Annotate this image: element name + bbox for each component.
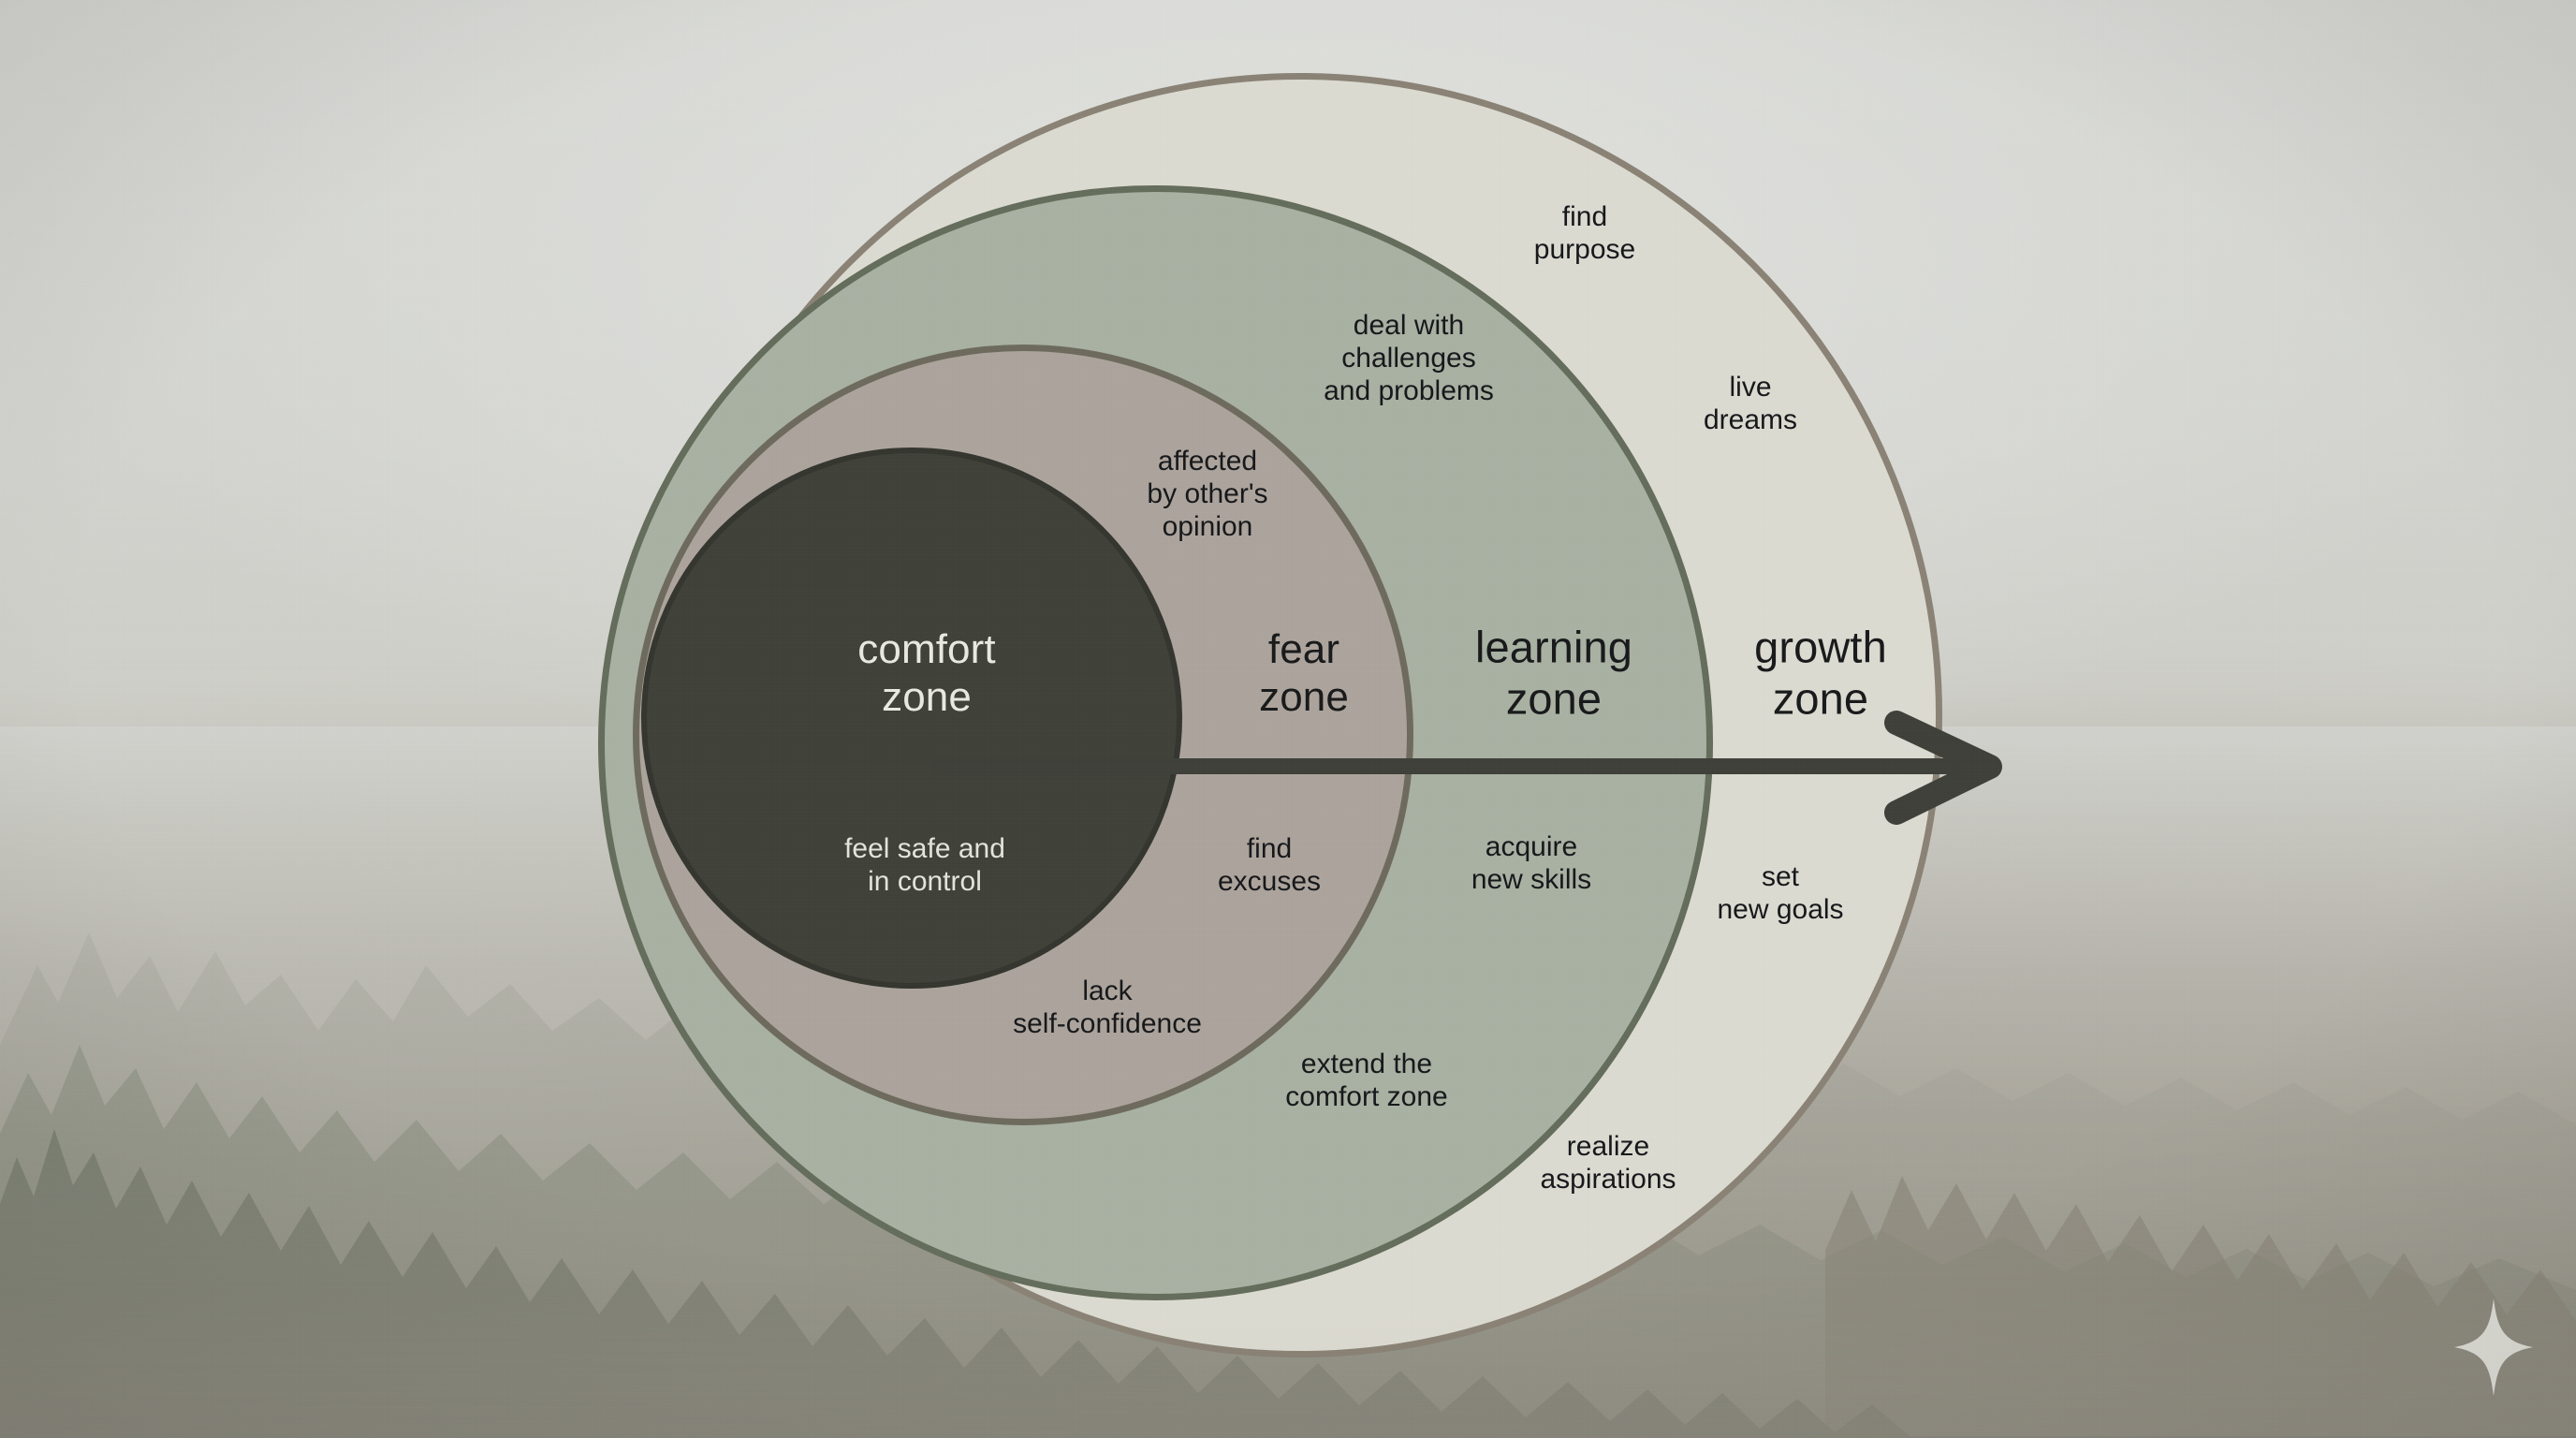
growth-trait-set-new-goals: set new goals bbox=[1717, 861, 1843, 927]
growth-trait-live-dreams: live dreams bbox=[1704, 372, 1797, 437]
growth-zone-title: growth zone bbox=[1754, 622, 1887, 724]
zones-diagram: find purpose live dreams set new goals r… bbox=[0, 0, 2576, 1438]
learning-zone-title: learning zone bbox=[1475, 622, 1632, 724]
fear-trait-lack-self-confidence: lack self-confidence bbox=[1013, 976, 1202, 1041]
diagram-canvas: find purpose live dreams set new goals r… bbox=[0, 0, 2576, 1438]
fear-zone-title: fear zone bbox=[1259, 625, 1349, 721]
comfort-zone-title: comfort zone bbox=[857, 625, 995, 721]
learning-trait-acquire-new-skills: acquire new skills bbox=[1471, 831, 1591, 897]
growth-trait-find-purpose: find purpose bbox=[1534, 201, 1635, 267]
comfort-trait-feel-safe-in-control: feel safe and in control bbox=[844, 833, 1005, 899]
learning-trait-extend-comfort-zone: extend the comfort zone bbox=[1285, 1049, 1447, 1114]
fear-trait-affected-by-others-opinion: affected by other's opinion bbox=[1147, 446, 1267, 543]
growth-arrow-head-icon bbox=[1880, 708, 2011, 829]
sparkle-icon bbox=[2452, 1297, 2535, 1398]
growth-arrow-shaft bbox=[931, 758, 1980, 774]
fear-trait-find-excuses: find excuses bbox=[1218, 833, 1321, 899]
learning-trait-deal-with-challenges: deal with challenges and problems bbox=[1324, 310, 1494, 407]
growth-trait-realize-aspirations: realize aspirations bbox=[1540, 1131, 1676, 1196]
